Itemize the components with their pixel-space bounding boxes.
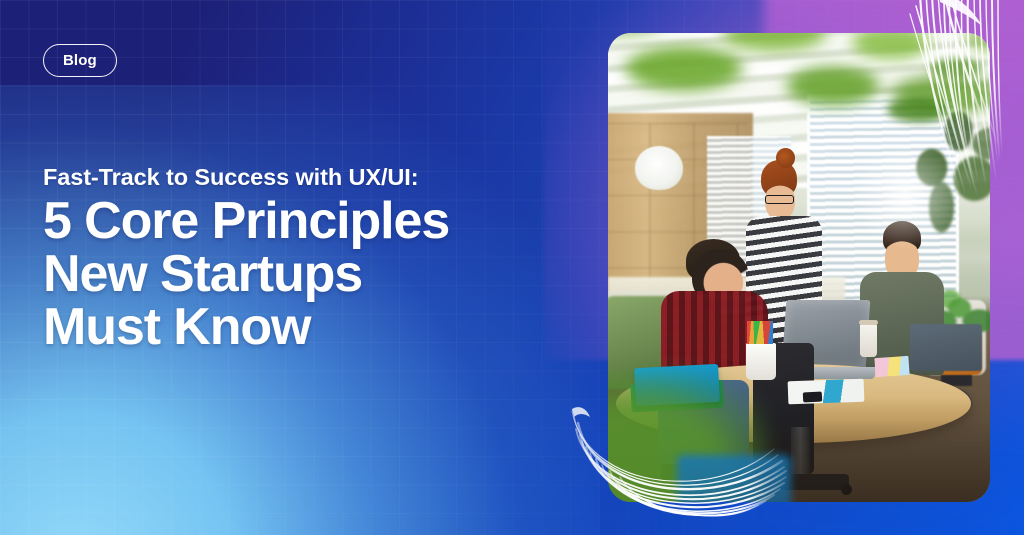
phone-on-table — [803, 391, 823, 402]
coffee-cup — [860, 324, 877, 357]
headline-block: Fast-Track to Success with UX/UI: 5 Core… — [43, 164, 563, 354]
second-laptop — [910, 324, 983, 371]
category-badge[interactable]: Blog — [43, 44, 117, 77]
blog-banner: Blog Fast-Track to Success with UX/UI: 5… — [0, 0, 1024, 535]
eyebrow-text: Fast-Track to Success with UX/UI: — [43, 164, 563, 190]
sticky-notes — [875, 355, 911, 376]
papers-on-table — [787, 379, 864, 405]
headline-line-3: Must Know — [43, 301, 563, 354]
lens-flare — [845, 136, 965, 256]
headline-line-1: 5 Core Principles — [43, 195, 563, 248]
foreground-teal-object — [677, 455, 792, 502]
page-title: 5 Core Principles New Startups Must Know — [43, 195, 563, 354]
hero-photo — [608, 33, 990, 502]
headline-line-2: New Startups — [43, 248, 563, 301]
category-badge-label: Blog — [63, 53, 97, 68]
